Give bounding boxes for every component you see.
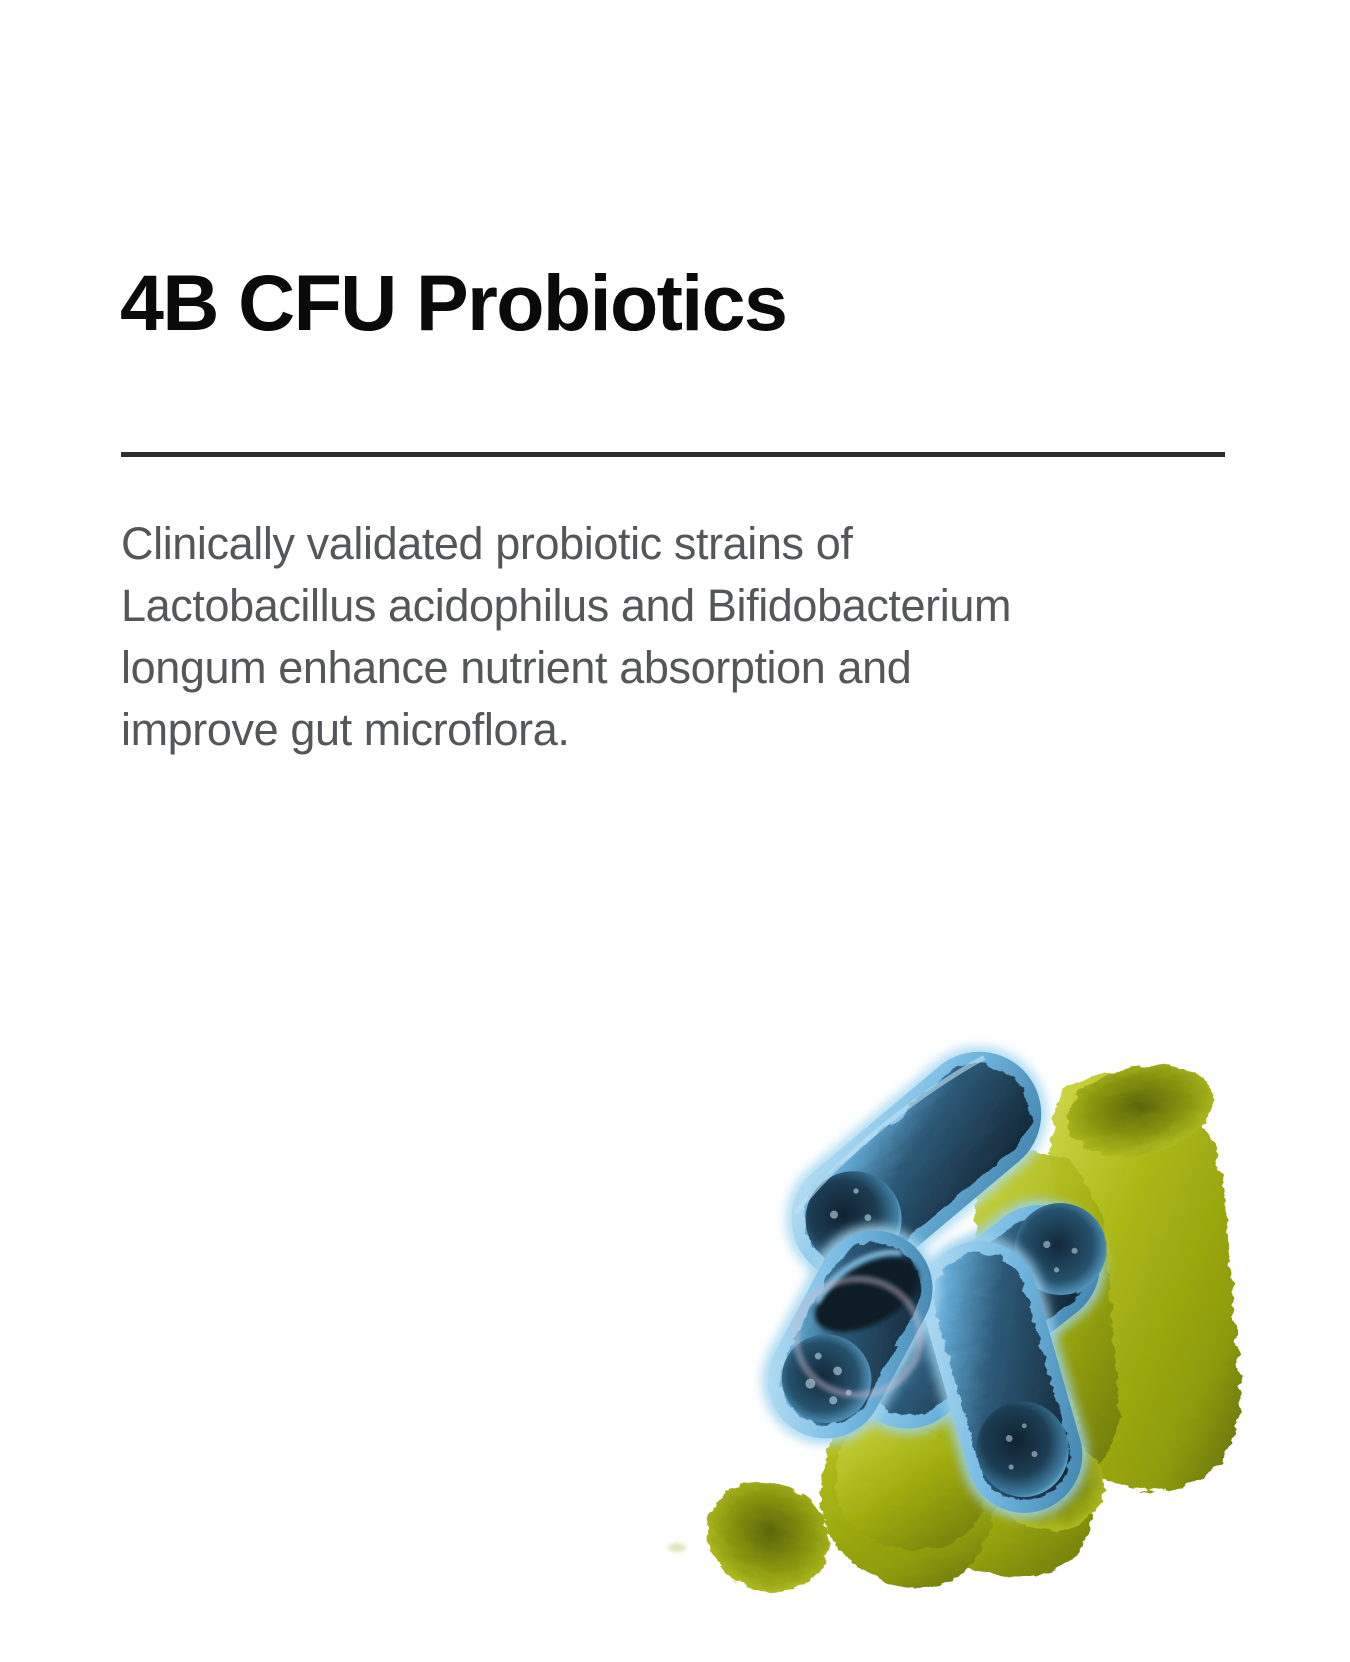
stray-speck bbox=[668, 1543, 686, 1552]
bacteria-illustration bbox=[600, 925, 1320, 1645]
description-line-1: Clinically validated probiotic strains o… bbox=[121, 513, 1211, 575]
title-divider bbox=[121, 452, 1225, 457]
page-title: 4B CFU Probiotics bbox=[120, 262, 786, 345]
description-line-2: Lactobacillus acidophilus and Bifidobact… bbox=[121, 575, 1211, 637]
description-line-3: longum enhance nutrient absorption and bbox=[121, 637, 1211, 699]
description-line-4: improve gut microflora. bbox=[121, 699, 1211, 761]
probiotics-feature-card: 4B CFU Probiotics Clinically validated p… bbox=[0, 0, 1350, 1662]
description-text: Clinically validated probiotic strains o… bbox=[121, 513, 1211, 761]
